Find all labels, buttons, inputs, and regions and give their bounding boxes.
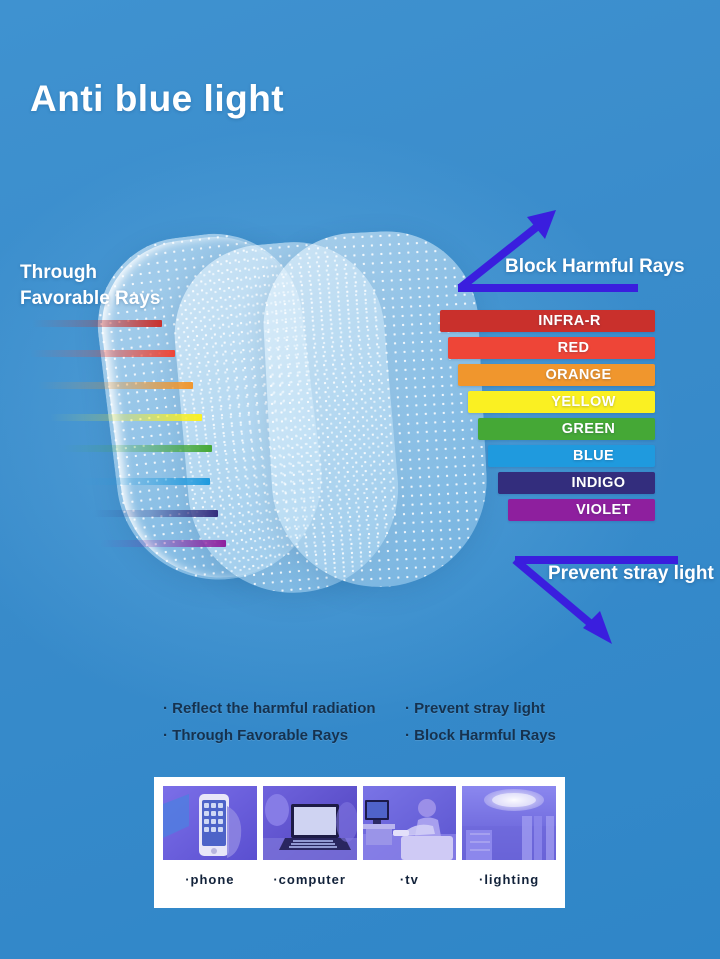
- scenario-caption: ·tv: [363, 872, 457, 887]
- scenario-caption-row: ·phone·computer·tv·lighting: [163, 872, 556, 887]
- feature-bullet: · Prevent stray light: [405, 700, 583, 717]
- spectrum-bar-orange: ORANGE: [458, 364, 655, 386]
- feature-bullet: · Reflect the harmful radiation: [163, 700, 405, 717]
- spectrum-bar-label: GREEN: [562, 421, 616, 437]
- spectrum-bar-yellow: YELLOW: [468, 391, 655, 413]
- spectrum-bar-green: GREEN: [478, 418, 655, 440]
- spectrum-bar-label: INFRA-R: [538, 313, 600, 329]
- spectrum-bar-label: BLUE: [573, 448, 614, 464]
- spectrum-bar-indigo: INDIGO: [498, 472, 655, 494]
- feature-bullet-list: · Reflect the harmful radiation· Prevent…: [163, 700, 583, 744]
- scenario-thumbnail-row: [163, 786, 556, 860]
- incoming-ray-4: [62, 445, 212, 452]
- tv-thumbnail: [363, 786, 457, 860]
- spectrum-bar-infra-r: INFRA-R: [440, 310, 655, 332]
- spectrum-bar-list: INFRA-RREDORANGEYELLOWGREENBLUEINDIGOVIO…: [440, 310, 680, 526]
- anti-blue-light-infographic: Anti blue light Through Favorable Rays I…: [0, 0, 720, 959]
- spectrum-bar-label: VIOLET: [576, 502, 631, 518]
- incoming-ray-2: [38, 382, 193, 389]
- lighting-thumbnail: [462, 786, 556, 860]
- computer-thumbnail: [263, 786, 357, 860]
- scenario-caption: ·computer: [263, 872, 357, 887]
- incoming-ray-0: [32, 320, 162, 327]
- block-harmful-rays-label: Block Harmful Rays: [505, 256, 685, 278]
- through-favorable-rays-label: Through Favorable Rays: [20, 260, 160, 311]
- spectrum-bar-label: ORANGE: [545, 367, 611, 383]
- incoming-ray-3: [50, 414, 202, 421]
- usage-scenarios-panel: ·phone·computer·tv·lighting: [154, 777, 565, 908]
- feature-bullet: · Through Favorable Rays: [163, 727, 405, 744]
- spectrum-bar-blue: BLUE: [488, 445, 655, 467]
- spectrum-bar-label: INDIGO: [572, 475, 626, 491]
- spectrum-bar-label: RED: [558, 340, 590, 356]
- phone-thumbnail: [163, 786, 257, 860]
- scenario-caption: ·lighting: [462, 872, 556, 887]
- incoming-ray-1: [30, 350, 175, 357]
- incoming-ray-5: [80, 478, 210, 485]
- spectrum-bar-label: YELLOW: [551, 394, 615, 410]
- spectrum-bar-violet: VIOLET: [508, 499, 655, 521]
- scenario-caption: ·phone: [163, 872, 257, 887]
- incoming-ray-7: [100, 540, 226, 547]
- feature-bullet: · Block Harmful Rays: [405, 727, 583, 744]
- prevent-stray-light-label: Prevent stray light: [548, 563, 714, 585]
- page-title: Anti blue light: [30, 78, 284, 120]
- incoming-ray-6: [92, 510, 218, 517]
- spectrum-bar-red: RED: [448, 337, 655, 359]
